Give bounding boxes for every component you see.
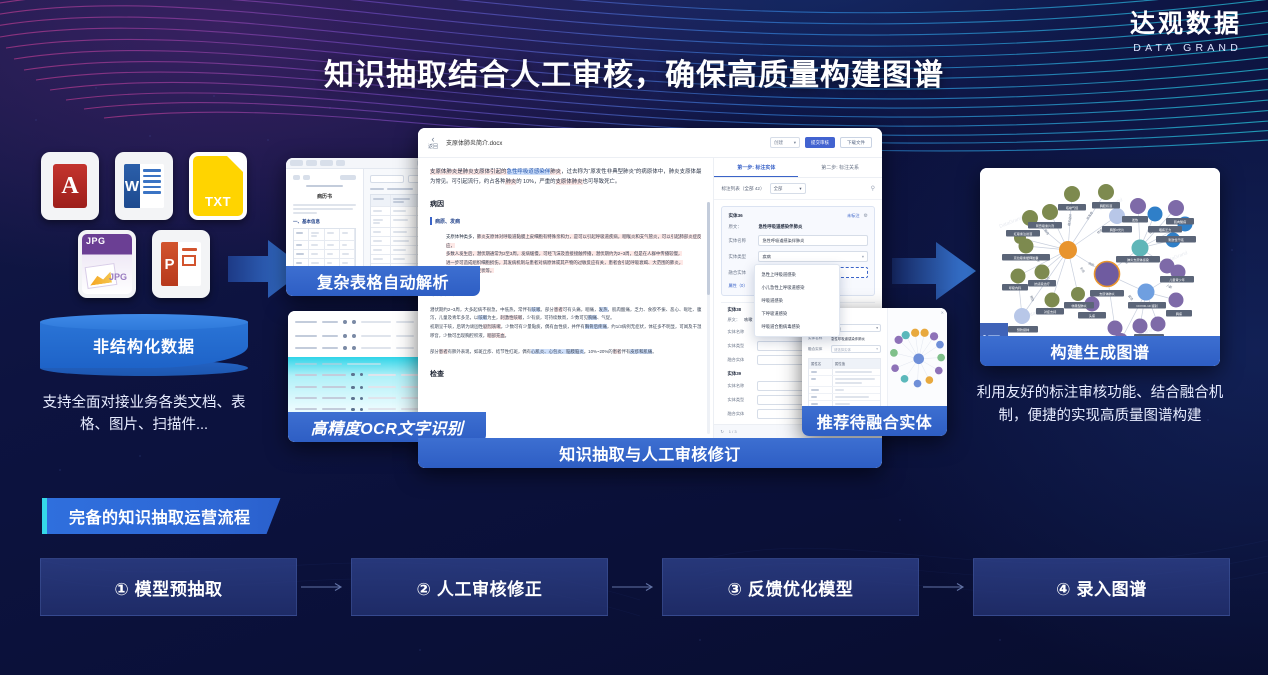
process-step-3[interactable]: ③ 反馈优化模型 [662, 558, 919, 616]
main-heading-1: 病因 [430, 199, 701, 209]
input-sources-caption: 支持全面对接业务各类文档、表格、图片、扫描件... [40, 392, 248, 437]
svg-text:刺激性干咳: 刺激性干咳 [1168, 237, 1183, 242]
svg-text:肌肉酸痛: 肌肉酸痛 [1174, 219, 1186, 224]
download-file-button[interactable]: 下载文件 [840, 137, 872, 148]
screenshot-knowledge-graph[interactable]: DataGrand DataGrand DataGrand DataGrand … [980, 168, 1220, 366]
tab-annotate-entity[interactable]: 第一步: 标注实体 [714, 158, 798, 177]
svg-text:别名: 别名 [1079, 266, 1086, 274]
svg-text:咳嗽气促: 咳嗽气促 [1066, 205, 1078, 210]
svg-text:DataGrand: DataGrand [999, 215, 1024, 230]
txt-glyph: TXT [193, 156, 243, 216]
svg-text:对症支持: 对症支持 [1044, 309, 1056, 314]
main-heading-3: 检查 [430, 369, 701, 379]
close-icon[interactable]: ✕ [941, 310, 944, 315]
svg-text:肺炎支原体感染: 肺炎支原体感染 [1127, 257, 1149, 262]
step-arrow-1 [297, 582, 351, 592]
annotation-list-header: 标注列表（全部 42） [721, 186, 764, 192]
brand-logo: 达观数据 DATA GRAND [1130, 12, 1242, 54]
svg-text:并发症: 并发症 [1085, 210, 1094, 220]
svg-text:红霉素注射液: 红霉素注射液 [1014, 231, 1033, 236]
dropdown-option[interactable]: 呼吸道合胞病毒感染 [755, 320, 839, 333]
table-row [809, 393, 880, 400]
step-arrow-3 [919, 582, 973, 592]
dropdown-option[interactable]: 下呼吸道感染 [755, 307, 839, 320]
entity-unmark-link[interactable]: 未标注 [847, 213, 860, 219]
merge-graph-preview [888, 308, 947, 406]
merge-caption: 推荐待融合实体 [802, 406, 947, 436]
process-step-2[interactable]: ② 人工审核修正 [351, 558, 608, 616]
ppt-glyph: P [161, 242, 201, 286]
unstructured-data-cylinder: 非结构化数据 [40, 314, 248, 376]
jpg-file-icon: JPG JPG [78, 230, 136, 298]
graph-caption: 构建生成图谱 [980, 336, 1220, 366]
ppt-file-icon: P [152, 230, 210, 298]
svg-text:儿童青少年: 儿童青少年 [1169, 277, 1184, 282]
annotation-tabs[interactable]: 第一步: 标注实体 第二步: 标注关系 [714, 158, 882, 178]
table-row [809, 375, 880, 386]
cylinder-label: 非结构化数据 [40, 314, 248, 376]
search-icon[interactable]: ⚲ [871, 185, 875, 192]
svg-text:头痛: 头痛 [1089, 313, 1095, 318]
dropdown-option[interactable]: 急性上呼吸道感染 [755, 268, 839, 281]
svg-text:胸痛: 胸痛 [1176, 311, 1182, 316]
svg-text:呼吸内科: 呼吸内科 [1009, 285, 1021, 290]
jpg-label-top: JPG [86, 236, 106, 246]
main-body-paragraph: 支原体肺炎是肺炎支原体引起的急性呼吸道感染伴肺炎，过去称为“原发性非典型肺炎”的… [430, 167, 701, 187]
svg-text:非典型肺炎: 非典型肺炎 [1071, 303, 1086, 308]
merge-col-name: 属性名 [809, 359, 833, 368]
tab-annotate-relation[interactable]: 第二步: 标注关系 [798, 158, 882, 177]
annotation-filter-select[interactable]: 全部▾ [770, 183, 806, 194]
back-button[interactable]: ‹ 返回 [428, 135, 438, 150]
brand-name-cn: 达观数据 [1130, 12, 1242, 37]
svg-text:抗感染治疗: 抗感染治疗 [1034, 281, 1049, 286]
table-row [809, 386, 880, 393]
merge-entity-select-dialog[interactable]: 请选择实体▾ [831, 345, 881, 353]
txt-file-icon: TXT [189, 152, 247, 220]
graph-section-caption: 利用友好的标注审核功能、结合融合机制，便捷的实现高质量图谱构建 [975, 382, 1225, 428]
page-title: 知识抽取结合人工审核，确保高质量构建图谱 [0, 50, 1268, 94]
gear-icon[interactable]: ⚙ [864, 213, 868, 219]
table-doc-section: 一、基本信息 [293, 219, 356, 225]
svg-text:预防接种: 预防接种 [1017, 327, 1029, 332]
input-sources-column: A W TXT JPG JPG P [40, 152, 248, 437]
svg-text:人群: 人群 [1166, 282, 1174, 289]
svg-text:支原体肺炎: 支原体肺炎 [1099, 291, 1114, 296]
dropdown-option[interactable]: 小儿急性上呼吸道感染 [755, 281, 839, 294]
svg-text:发热: 发热 [1132, 217, 1138, 222]
jpg-label-bottom: JPG [109, 272, 127, 282]
process-step-4[interactable]: ④ 录入图谱 [973, 558, 1230, 616]
main-select[interactable]: 创建▾ [770, 137, 800, 148]
table-doc-title: 病历书 [293, 193, 356, 200]
merge-entity-dropdown[interactable]: 急性上呼吸道感染 小儿急性上呼吸道感染 呼吸道感染 下呼吸道感染 呼吸道合胞病毒… [754, 264, 840, 337]
flow-arrow-2 [892, 240, 976, 302]
rotate-icon[interactable]: ↻ [720, 429, 723, 434]
pdf-glyph: A [53, 164, 87, 208]
flow-header-label: 完备的知识抽取运营流程 [47, 498, 281, 534]
svg-text:相关症状: 相关症状 [1066, 214, 1073, 227]
svg-text:胸腔积液: 胸腔积液 [1100, 203, 1112, 208]
svg-text:咽痛乏力: 咽痛乏力 [1159, 227, 1171, 232]
svg-text:属性: 属性 [1127, 294, 1135, 302]
flow-header-accent [42, 498, 47, 534]
svg-text:预防: 预防 [1029, 295, 1036, 302]
entity-type-select[interactable]: 疾病▾ [758, 251, 868, 262]
doc-scrollbar[interactable] [707, 202, 710, 434]
word-file-icon: W [115, 152, 173, 220]
flow-section-header: 完备的知识抽取运营流程 [42, 498, 281, 534]
process-steps: ① 模型预抽取 ② 人工审核修正 ③ 反馈优化模型 ④ 录入图谱 [40, 558, 1230, 616]
submit-review-button[interactable]: 提交审核 [805, 137, 835, 148]
main-caption: 知识抽取与人工审核修订 [418, 438, 882, 468]
word-glyph: W [124, 164, 164, 208]
step-arrow-2 [608, 582, 662, 592]
process-step-1[interactable]: ① 模型预抽取 [40, 558, 297, 616]
svg-text:胸部X光片: 胸部X光片 [1110, 227, 1124, 232]
table-parsing-caption: 复杂表格自动解析 [286, 266, 480, 296]
pdf-file-icon: A [41, 152, 99, 220]
dropdown-option[interactable]: 呼吸道感染 [755, 294, 839, 307]
file-type-icon-grid: A W TXT JPG JPG P [40, 152, 248, 298]
merge-col-value: 属性值 [833, 359, 880, 368]
table-row [809, 368, 880, 375]
svg-text:COVID-19 鉴别: COVID-19 鉴别 [1136, 303, 1157, 308]
entity-name-input[interactable]: 急性呼吸道感染伴肺炎 [758, 235, 868, 246]
svg-text:克拉霉素缓释胶囊: 克拉霉素缓释胶囊 [1014, 255, 1039, 260]
slide-canvas: 达观数据 DATA GRAND 知识抽取结合人工审核，确保高质量构建图谱 A W… [0, 0, 1268, 675]
main-file-name: 支原体肺炎简介.docx [446, 138, 502, 147]
svg-text:阿奇霉素片剂: 阿奇霉素片剂 [1036, 223, 1055, 228]
